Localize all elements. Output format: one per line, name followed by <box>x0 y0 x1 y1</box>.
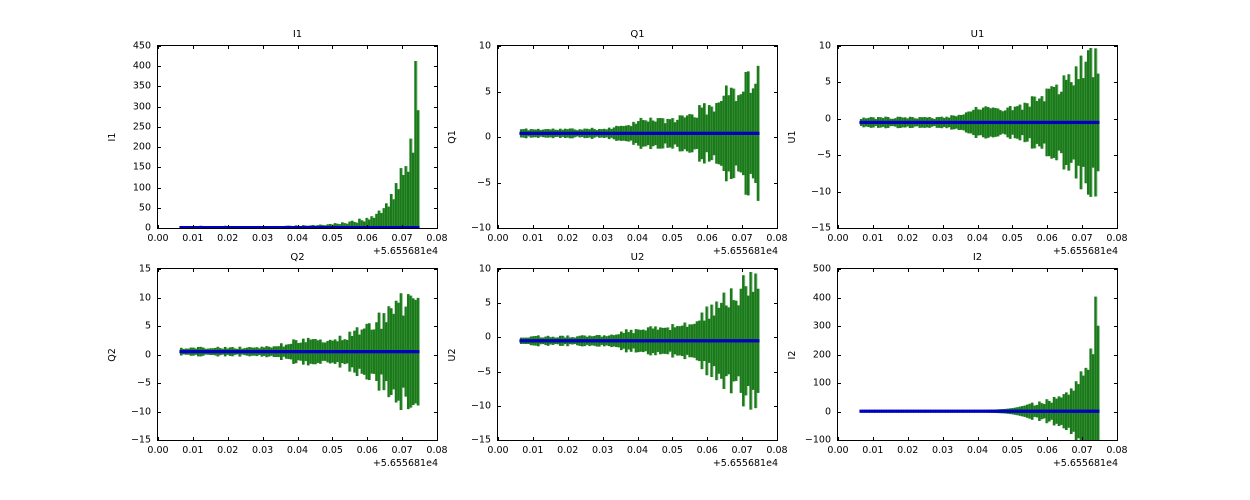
y-tick-label: 0 <box>453 132 491 143</box>
y-tick-mark <box>434 355 438 356</box>
y-tick-mark <box>774 440 778 441</box>
x-tick-label: 0.05 <box>662 445 683 456</box>
x-tick-label: 0.07 <box>732 233 753 244</box>
y-tick-label: 300 <box>113 101 151 112</box>
y-tick-label: −15 <box>453 435 491 446</box>
y-tick-mark <box>1114 192 1118 193</box>
x-tick-mark <box>672 437 673 441</box>
subplot-title: Q1 <box>497 29 778 41</box>
x-axis-offset-text: +5.655681e4 <box>1022 246 1118 257</box>
plot-area <box>157 45 438 229</box>
y-tick-mark <box>434 188 438 189</box>
plot-area <box>157 268 438 441</box>
y-tick-mark <box>434 412 438 413</box>
y-tick-label: 50 <box>113 202 151 213</box>
y-tick-label: 5 <box>453 86 491 97</box>
x-tick-mark <box>298 225 299 229</box>
y-tick-mark <box>497 183 501 184</box>
y-tick-mark <box>1114 119 1118 120</box>
y-tick-label: 10 <box>113 292 151 303</box>
x-tick-mark <box>638 268 639 272</box>
x-tick-mark <box>193 45 194 49</box>
x-tick-mark <box>908 45 909 49</box>
y-tick-mark <box>497 137 501 138</box>
y-tick-label: 0 <box>793 113 831 124</box>
y-tick-label: 450 <box>113 41 151 52</box>
y-tick-label: 200 <box>793 349 831 360</box>
y-tick-mark <box>434 326 438 327</box>
y-tick-mark <box>434 107 438 108</box>
subplot-i1: I10501001502002503003504004500.000.010.0… <box>0 0 1250 500</box>
x-tick-mark <box>908 225 909 229</box>
x-tick-mark <box>638 437 639 441</box>
x-tick-label: 0.06 <box>1037 233 1058 244</box>
x-tick-mark <box>1012 45 1013 49</box>
y-tick-mark <box>774 406 778 407</box>
x-tick-mark <box>158 225 159 229</box>
x-tick-mark <box>263 225 264 229</box>
x-tick-mark <box>978 268 979 272</box>
subplot-i2: I2−10001002003004005000.000.010.020.030.… <box>0 0 1250 500</box>
x-tick-mark <box>707 225 708 229</box>
x-tick-mark <box>498 225 499 229</box>
x-tick-mark <box>943 225 944 229</box>
x-tick-mark <box>193 437 194 441</box>
x-tick-mark <box>603 45 604 49</box>
x-tick-mark <box>742 437 743 441</box>
x-tick-mark <box>943 45 944 49</box>
y-tick-mark <box>497 372 501 373</box>
y-tick-label: −10 <box>113 406 151 417</box>
y-tick-mark <box>157 167 161 168</box>
y-tick-mark <box>837 46 841 47</box>
y-tick-mark <box>157 269 161 270</box>
x-tick-label: 0.01 <box>182 445 203 456</box>
x-tick-mark <box>498 437 499 441</box>
y-tick-mark <box>434 383 438 384</box>
y-tick-mark <box>774 303 778 304</box>
y-tick-mark <box>1114 228 1118 229</box>
x-tick-label: 0.07 <box>392 445 413 456</box>
y-tick-mark <box>774 92 778 93</box>
y-tick-label: 100 <box>793 378 831 389</box>
x-tick-mark <box>603 225 604 229</box>
x-tick-mark <box>298 45 299 49</box>
x-tick-mark <box>1012 268 1013 272</box>
y-tick-label: −10 <box>453 223 491 234</box>
y-tick-mark <box>837 82 841 83</box>
y-tick-mark <box>837 119 841 120</box>
plot-area <box>497 45 778 229</box>
x-axis-offset-text: +5.655681e4 <box>682 458 778 469</box>
x-tick-mark <box>838 437 839 441</box>
x-tick-mark <box>777 45 778 49</box>
x-tick-label: 0.03 <box>592 445 613 456</box>
x-tick-mark <box>437 45 438 49</box>
y-tick-label: 5 <box>453 298 491 309</box>
x-tick-mark <box>193 268 194 272</box>
x-tick-label: 0.08 <box>1106 233 1127 244</box>
x-tick-label: 0.02 <box>557 233 578 244</box>
x-tick-mark <box>742 45 743 49</box>
x-tick-label: 0.02 <box>897 445 918 456</box>
plot-area <box>837 268 1118 441</box>
y-tick-mark <box>157 412 161 413</box>
y-tick-label: 5 <box>793 77 831 88</box>
x-tick-mark <box>873 225 874 229</box>
y-tick-mark <box>157 355 161 356</box>
x-tick-mark <box>978 437 979 441</box>
y-tick-mark <box>434 86 438 87</box>
x-axis-offset-text: +5.655681e4 <box>342 246 438 257</box>
x-tick-label: 0.01 <box>522 445 543 456</box>
y-tick-mark <box>434 269 438 270</box>
x-tick-mark <box>1117 437 1118 441</box>
x-axis-offset-text: +5.655681e4 <box>342 458 438 469</box>
x-tick-mark <box>707 45 708 49</box>
x-tick-mark <box>533 45 534 49</box>
x-tick-mark <box>568 437 569 441</box>
y-tick-mark <box>434 167 438 168</box>
y-tick-mark <box>1114 155 1118 156</box>
y-tick-mark <box>837 383 841 384</box>
x-tick-mark <box>838 268 839 272</box>
x-tick-label: 0.08 <box>426 445 447 456</box>
y-tick-mark <box>157 107 161 108</box>
x-tick-mark <box>367 437 368 441</box>
y-tick-mark <box>497 406 501 407</box>
y-tick-mark <box>497 46 501 47</box>
y-tick-mark <box>157 208 161 209</box>
x-tick-label: 0.07 <box>1072 233 1093 244</box>
x-tick-label: 0.05 <box>1002 445 1023 456</box>
x-tick-mark <box>978 225 979 229</box>
y-tick-mark <box>1114 383 1118 384</box>
x-tick-mark <box>873 45 874 49</box>
subplot-title: Q2 <box>157 252 438 264</box>
y-tick-label: 150 <box>113 162 151 173</box>
y-tick-label: 5 <box>113 321 151 332</box>
x-tick-mark <box>228 225 229 229</box>
x-tick-label: 0.02 <box>897 233 918 244</box>
y-tick-label: 250 <box>113 121 151 132</box>
y-tick-mark <box>774 372 778 373</box>
x-tick-mark <box>332 225 333 229</box>
y-tick-label: −100 <box>793 435 831 446</box>
y-tick-mark <box>1114 326 1118 327</box>
x-tick-label: 0.03 <box>252 445 273 456</box>
x-tick-mark <box>193 225 194 229</box>
x-tick-mark <box>672 268 673 272</box>
subplot-title: I2 <box>837 252 1118 264</box>
y-tick-mark <box>157 46 161 47</box>
x-tick-label: 0.00 <box>487 445 508 456</box>
x-tick-label: 0.08 <box>766 445 787 456</box>
x-tick-label: 0.02 <box>557 445 578 456</box>
x-tick-mark <box>332 437 333 441</box>
y-tick-label: 100 <box>113 182 151 193</box>
subplot-u2: U2−15−10−505100.000.010.020.030.040.050.… <box>0 0 1250 500</box>
y-axis-label: Q1 <box>447 107 459 167</box>
y-tick-label: 500 <box>793 264 831 275</box>
y-axis-label: U1 <box>787 107 799 167</box>
y-tick-label: 0 <box>113 349 151 360</box>
y-tick-label: 10 <box>453 264 491 275</box>
y-tick-mark <box>157 326 161 327</box>
y-tick-label: −10 <box>793 186 831 197</box>
x-tick-label: 0.06 <box>697 445 718 456</box>
y-tick-mark <box>1114 440 1118 441</box>
x-tick-mark <box>1047 437 1048 441</box>
plot-area <box>837 45 1118 229</box>
y-tick-label: 400 <box>793 292 831 303</box>
y-tick-mark <box>837 192 841 193</box>
x-tick-label: 0.08 <box>766 233 787 244</box>
x-tick-mark <box>672 225 673 229</box>
x-tick-mark <box>1082 268 1083 272</box>
y-tick-mark <box>837 412 841 413</box>
y-tick-mark <box>837 228 841 229</box>
y-axis-label: I2 <box>787 325 799 385</box>
x-tick-mark <box>568 268 569 272</box>
x-tick-mark <box>402 45 403 49</box>
x-tick-label: 0.04 <box>627 445 648 456</box>
x-tick-label: 0.01 <box>522 233 543 244</box>
x-tick-mark <box>533 225 534 229</box>
y-tick-label: −15 <box>113 435 151 446</box>
x-tick-mark <box>158 437 159 441</box>
x-tick-mark <box>908 268 909 272</box>
x-tick-label: 0.04 <box>287 233 308 244</box>
x-tick-mark <box>873 437 874 441</box>
y-tick-mark <box>774 137 778 138</box>
x-tick-label: 0.04 <box>967 233 988 244</box>
y-tick-mark <box>774 46 778 47</box>
y-tick-label: 15 <box>113 264 151 275</box>
y-tick-mark <box>157 188 161 189</box>
y-tick-mark <box>434 208 438 209</box>
y-tick-mark <box>837 269 841 270</box>
x-tick-mark <box>437 225 438 229</box>
x-tick-mark <box>943 437 944 441</box>
y-tick-mark <box>157 66 161 67</box>
y-tick-mark <box>1114 412 1118 413</box>
x-tick-label: 0.01 <box>862 445 883 456</box>
y-tick-mark <box>497 92 501 93</box>
x-tick-mark <box>603 437 604 441</box>
x-tick-mark <box>1082 225 1083 229</box>
x-tick-mark <box>367 268 368 272</box>
y-tick-label: −5 <box>453 177 491 188</box>
x-tick-mark <box>332 268 333 272</box>
x-tick-label: 0.00 <box>487 233 508 244</box>
x-tick-mark <box>437 268 438 272</box>
x-tick-label: 0.05 <box>322 445 343 456</box>
y-tick-label: −5 <box>113 378 151 389</box>
y-tick-mark <box>434 298 438 299</box>
x-tick-mark <box>332 45 333 49</box>
x-tick-label: 0.06 <box>357 233 378 244</box>
x-tick-mark <box>158 45 159 49</box>
x-tick-mark <box>402 225 403 229</box>
x-tick-label: 0.03 <box>932 445 953 456</box>
x-tick-mark <box>943 268 944 272</box>
y-tick-label: 10 <box>793 41 831 52</box>
y-tick-mark <box>157 228 161 229</box>
y-tick-mark <box>434 46 438 47</box>
x-tick-label: 0.01 <box>862 233 883 244</box>
x-tick-mark <box>228 268 229 272</box>
x-tick-mark <box>298 437 299 441</box>
x-tick-mark <box>638 45 639 49</box>
x-tick-label: 0.00 <box>147 445 168 456</box>
x-tick-mark <box>742 268 743 272</box>
x-tick-mark <box>1082 437 1083 441</box>
y-tick-mark <box>774 183 778 184</box>
y-tick-mark <box>1114 298 1118 299</box>
x-tick-mark <box>777 437 778 441</box>
x-tick-mark <box>838 225 839 229</box>
y-tick-mark <box>837 298 841 299</box>
x-tick-mark <box>263 268 264 272</box>
y-tick-mark <box>157 440 161 441</box>
x-tick-mark <box>498 268 499 272</box>
x-tick-label: 0.05 <box>322 233 343 244</box>
x-tick-mark <box>603 268 604 272</box>
y-tick-mark <box>1114 46 1118 47</box>
y-tick-mark <box>497 440 501 441</box>
x-tick-label: 0.00 <box>827 233 848 244</box>
y-tick-mark <box>157 147 161 148</box>
x-tick-label: 0.04 <box>627 233 648 244</box>
x-tick-mark <box>777 268 778 272</box>
x-tick-mark <box>1012 437 1013 441</box>
y-tick-label: −15 <box>793 223 831 234</box>
y-tick-mark <box>434 127 438 128</box>
x-tick-mark <box>437 437 438 441</box>
x-tick-mark <box>498 45 499 49</box>
x-tick-mark <box>707 268 708 272</box>
x-tick-label: 0.03 <box>592 233 613 244</box>
y-tick-label: 300 <box>793 321 831 332</box>
x-tick-label: 0.00 <box>827 445 848 456</box>
y-tick-mark <box>774 269 778 270</box>
x-tick-label: 0.05 <box>662 233 683 244</box>
y-tick-mark <box>774 337 778 338</box>
y-tick-mark <box>434 228 438 229</box>
x-tick-label: 0.05 <box>1002 233 1023 244</box>
y-tick-label: 10 <box>453 41 491 52</box>
y-tick-label: 350 <box>113 81 151 92</box>
y-tick-mark <box>434 147 438 148</box>
y-axis-label: U2 <box>447 325 459 385</box>
x-tick-mark <box>707 437 708 441</box>
x-tick-mark <box>568 225 569 229</box>
y-tick-mark <box>837 326 841 327</box>
x-tick-mark <box>298 268 299 272</box>
x-tick-mark <box>978 45 979 49</box>
x-tick-label: 0.06 <box>1037 445 1058 456</box>
x-tick-label: 0.01 <box>182 233 203 244</box>
y-tick-label: 200 <box>113 142 151 153</box>
subplot-title: U2 <box>497 252 778 264</box>
y-tick-mark <box>157 127 161 128</box>
y-tick-mark <box>837 440 841 441</box>
y-axis-label: I1 <box>107 107 119 167</box>
x-tick-mark <box>742 225 743 229</box>
subplot-q1: Q1−10−505100.000.010.020.030.040.050.060… <box>0 0 1250 500</box>
x-tick-mark <box>367 225 368 229</box>
x-tick-mark <box>158 268 159 272</box>
y-tick-mark <box>1114 269 1118 270</box>
y-tick-label: 400 <box>113 61 151 72</box>
x-tick-mark <box>777 225 778 229</box>
y-tick-label: −10 <box>453 400 491 411</box>
x-tick-label: 0.00 <box>147 233 168 244</box>
x-axis-offset-text: +5.655681e4 <box>682 246 778 257</box>
y-tick-mark <box>157 383 161 384</box>
x-tick-label: 0.06 <box>697 233 718 244</box>
x-tick-mark <box>263 45 264 49</box>
x-tick-label: 0.06 <box>357 445 378 456</box>
y-axis-label: Q2 <box>107 325 119 385</box>
y-tick-label: −5 <box>793 150 831 161</box>
x-tick-mark <box>402 268 403 272</box>
x-tick-mark <box>838 45 839 49</box>
x-tick-mark <box>1082 45 1083 49</box>
x-tick-label: 0.07 <box>732 445 753 456</box>
x-tick-mark <box>1047 225 1048 229</box>
x-tick-mark <box>1117 45 1118 49</box>
y-tick-mark <box>774 228 778 229</box>
x-tick-mark <box>1012 225 1013 229</box>
x-tick-mark <box>402 437 403 441</box>
x-tick-mark <box>908 437 909 441</box>
y-tick-mark <box>434 66 438 67</box>
x-tick-mark <box>533 437 534 441</box>
x-tick-label: 0.07 <box>392 233 413 244</box>
x-tick-label: 0.03 <box>252 233 273 244</box>
subplot-q2: Q2−15−10−50510150.000.010.020.030.040.05… <box>0 0 1250 500</box>
x-tick-label: 0.07 <box>1072 445 1093 456</box>
x-tick-mark <box>1047 45 1048 49</box>
x-tick-label: 0.04 <box>967 445 988 456</box>
y-tick-mark <box>497 269 501 270</box>
y-tick-mark <box>497 228 501 229</box>
x-tick-label: 0.08 <box>1106 445 1127 456</box>
y-tick-label: 0 <box>793 406 831 417</box>
y-tick-label: −5 <box>453 366 491 377</box>
x-tick-label: 0.02 <box>217 445 238 456</box>
x-tick-mark <box>228 437 229 441</box>
x-tick-mark <box>263 437 264 441</box>
x-tick-label: 0.02 <box>217 233 238 244</box>
plot-area <box>497 268 778 441</box>
y-tick-mark <box>434 440 438 441</box>
x-tick-label: 0.08 <box>426 233 447 244</box>
x-axis-offset-text: +5.655681e4 <box>1022 458 1118 469</box>
x-tick-mark <box>873 268 874 272</box>
matplotlib-figure: I10501001502002503003504004500.000.010.0… <box>0 0 1250 500</box>
x-tick-label: 0.04 <box>287 445 308 456</box>
x-tick-mark <box>672 45 673 49</box>
y-tick-mark <box>157 298 161 299</box>
y-tick-label: 0 <box>453 332 491 343</box>
y-tick-mark <box>1114 82 1118 83</box>
x-tick-mark <box>367 45 368 49</box>
y-tick-mark <box>157 86 161 87</box>
y-tick-mark <box>837 155 841 156</box>
